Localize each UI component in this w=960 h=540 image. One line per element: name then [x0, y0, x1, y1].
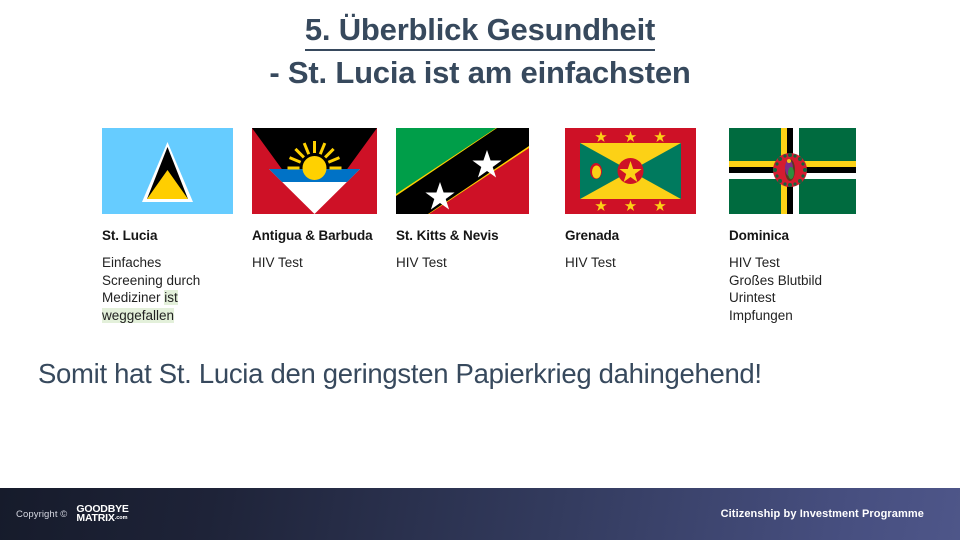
st-lucia-flag	[102, 128, 233, 219]
list-item: HIV Test	[729, 254, 856, 272]
title-line-1-wrap: 5. Überblick Gesundheit	[0, 13, 960, 51]
country-column-st-kitts-and-nevis: St. Kitts & Nevis HIV Test	[396, 128, 529, 272]
flag-wrap-antigua-and-barbuda	[252, 128, 377, 216]
goodbye-matrix-logo: GOODBYE MATRIX.com	[76, 505, 128, 524]
footer-branding: Copyright © GOODBYE MATRIX.com	[16, 505, 129, 524]
country-column-antigua-and-barbuda: Antigua & Barbuda HIV Test	[252, 128, 377, 272]
slide-footer: Copyright © GOODBYE MATRIX.com Citizensh…	[0, 488, 960, 540]
item-text-plain: Einfaches Screening durch Mediziner	[102, 255, 200, 305]
items-st-lucia: Einfaches Screening durch Mediziner ist …	[102, 254, 233, 324]
items-grenada: HIV Test	[565, 254, 696, 272]
logo-line-2: MATRIX	[76, 512, 114, 524]
page-title-line-1: 5. Überblick Gesundheit	[305, 13, 655, 51]
list-item: Urintest	[729, 289, 856, 307]
grenada-flag	[565, 128, 696, 219]
country-columns: St. Lucia Einfaches Screening durch Medi…	[0, 128, 960, 343]
footer-tagline: Citizenship by Investment Programme	[721, 508, 924, 520]
antigua-and-barbuda-flag	[252, 128, 377, 219]
list-item: Großes Blutbild	[729, 272, 856, 290]
list-item: HIV Test	[396, 254, 529, 272]
list-item: HIV Test	[565, 254, 696, 272]
flag-wrap-st-kitts-and-nevis	[396, 128, 529, 216]
logo-line-2-wrap: MATRIX.com	[76, 514, 128, 524]
st-kitts-and-nevis-flag	[396, 128, 529, 219]
country-column-dominica: Dominica HIV Test Großes Blutbild Urinte…	[729, 128, 856, 324]
list-item: HIV Test	[252, 254, 377, 272]
country-column-st-lucia: St. Lucia Einfaches Screening durch Medi…	[102, 128, 233, 324]
country-name-dominica: Dominica	[729, 228, 856, 243]
dominica-flag	[729, 128, 856, 219]
flag-wrap-grenada	[565, 128, 696, 216]
list-item: Einfaches Screening durch Mediziner ist …	[102, 254, 220, 324]
items-antigua-and-barbuda: HIV Test	[252, 254, 377, 272]
slide-title-block: 5. Überblick Gesundheit - St. Lucia ist …	[0, 0, 960, 92]
country-name-grenada: Grenada	[565, 228, 696, 243]
copyright-text: Copyright ©	[16, 509, 67, 520]
logo-domain-suffix: .com	[115, 515, 128, 521]
country-name-st-lucia: St. Lucia	[102, 228, 233, 243]
country-column-grenada: Grenada HIV Test	[565, 128, 696, 272]
summary-statement: Somit hat St. Lucia den geringsten Papie…	[38, 358, 762, 390]
flag-wrap-st-lucia	[102, 128, 233, 216]
list-item: Impfungen	[729, 307, 856, 325]
country-name-antigua-and-barbuda: Antigua & Barbuda	[252, 228, 377, 243]
country-name-st-kitts-and-nevis: St. Kitts & Nevis	[396, 228, 529, 243]
flag-wrap-dominica	[729, 128, 856, 216]
items-st-kitts-and-nevis: HIV Test	[396, 254, 529, 272]
items-dominica: HIV Test Großes Blutbild Urintest Impfun…	[729, 254, 856, 324]
page-title-line-2: - St. Lucia ist am einfachsten	[0, 54, 960, 93]
